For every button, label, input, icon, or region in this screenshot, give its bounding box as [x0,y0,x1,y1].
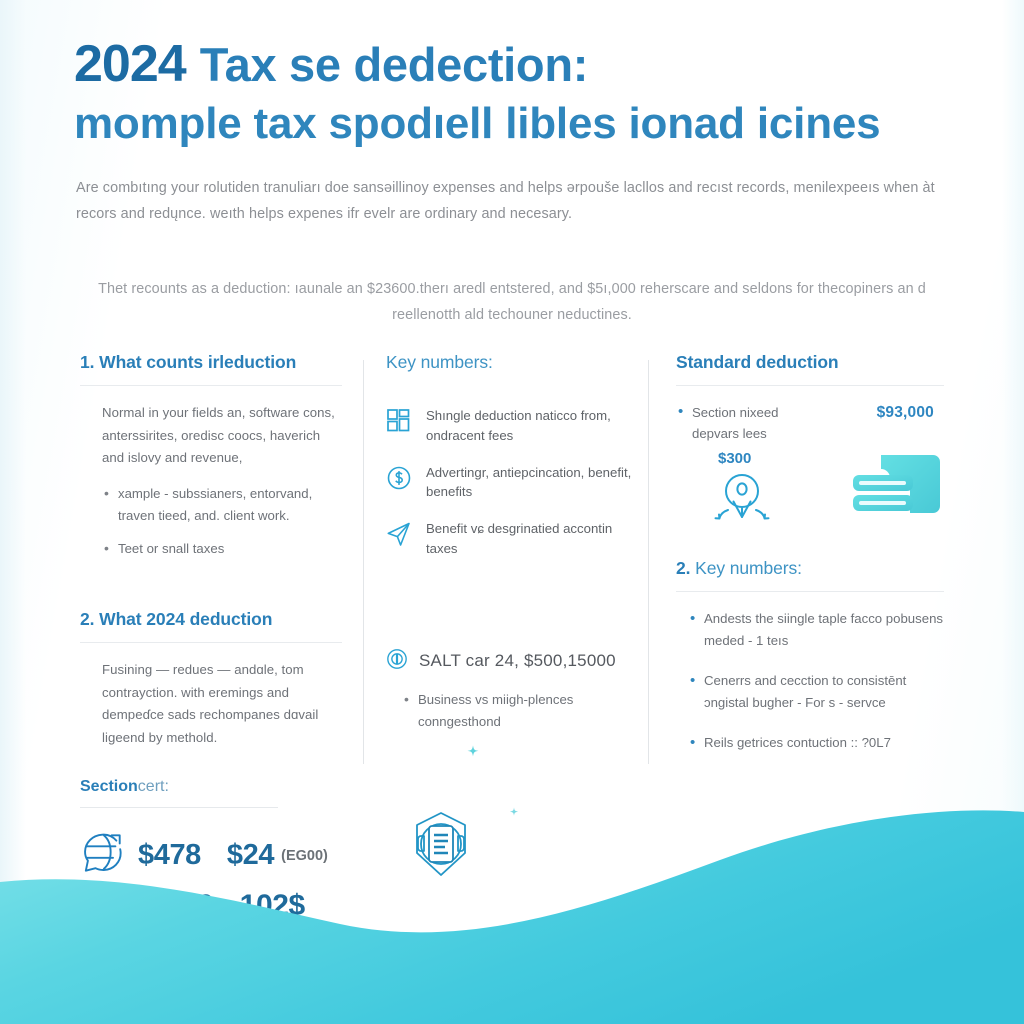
bottom-section: Sectioncert: $478 $24 (EG00) [80,778,960,923]
list-item: xample - subssianers, entorvand, traven … [102,483,342,527]
col3-section2-title: Key numbers: [695,558,802,578]
col1-section2-number: 2. [80,609,94,629]
lead-paragraph-2: Thet recounts as a deduction: ıaunale an… [92,276,932,328]
title-main: Tax se dedection: [200,38,588,91]
list-item: Teet or snall taxes [102,538,342,560]
list-item: Reils getrices contuction :: ?0L7 [688,732,944,754]
col1-section2-title: What 2024 deduction [99,609,272,629]
col1-section1-bullets: xample - subssianers, entorvand, traven … [102,483,342,560]
list-item: Business vs miigh-рlences conngesthond [402,689,632,733]
col2-salt-label: SALT car 24, $500,15000 [419,651,616,671]
page-title-line-1: 2024Tax se dedection: [74,34,954,94]
sparkle-icon [462,744,484,771]
bottom-rule [80,807,278,808]
col2-item-1: Shıngle deduction naticco from, ondracen… [386,406,632,446]
col1-section1-title: What counts irleduction [99,352,296,372]
bottom-stat-3-value: $44,000 [108,889,214,923]
col3-amount-right: $93,000 [877,404,934,422]
grid-icon [386,406,413,439]
col1-section1-rule [80,385,342,386]
col1-section1-heading: 1. What counts irleduction [80,352,342,373]
col2-heading: Key numbers: [386,352,632,373]
col2-item-2-text: Advertingr, antiepcincation, benefit, be… [426,463,632,503]
header: 2024Tax se dedection: momple tax spodıel… [74,34,954,150]
list-item: Andests the siingle taple facco pobusens… [688,608,944,652]
col3-section2-heading: 2. Key numbers: [676,558,944,579]
bottom-stat-2-sup: (EG00) [281,848,328,864]
col2-item-1-text: Shıngle deduction naticco from, ondracen… [426,406,632,446]
col1-section2-rule [80,642,342,643]
col3-amount-pin: $300 [718,450,751,467]
bottom-stat-2-value: $24 [227,839,274,872]
col3-section2-bullets: Andests the siingle taple facco pobusens… [688,608,944,754]
bottom-heading: Sectioncert: [80,778,960,796]
col2-salt-bullets: Business vs miigh-рlences conngesthond [402,689,632,733]
lead-paragraph-1: Are combıtıng your rolutiden tranuliarı … [76,176,938,227]
infographic-page: 2024Tax se dedection: momple tax spodıel… [0,0,1024,1024]
list-item: Cenerrs and cecction to consistēnt ɔngis… [688,670,944,714]
page-subtitle: momple tax spodıell libles ionad icines [74,98,954,150]
stacked-books-icon [848,450,944,531]
col3-section1-bullet: Section nixeed depvars lees [676,402,826,445]
bottom-stat-row-2: $44,000 102$ [108,889,960,923]
col3-section1-heading: Standard deduction [676,352,944,373]
col3-section2-rule [676,591,944,592]
bottom-stat-1-value: $478 [138,839,201,872]
col2-item-3-text: Benefit vɕ desgrinatied accontin taxes [426,519,632,559]
col2-item-2: Advertingr, antiepcincation, benefit, be… [386,463,632,503]
column-3: Standard deduction Section nixeed depvar… [676,352,944,765]
col1-section1-number: 1. [80,352,94,372]
document-badge-icon [410,810,472,883]
col2-item-3: Benefit vɕ desgrinatied accontin taxes [386,519,632,559]
col1-section2-paragraph: Fusining — redues — andɑle, tom contrayc… [102,659,342,750]
column-divider-1 [363,360,364,764]
content-columns: 1. What counts irleduction Normal in you… [0,352,1024,768]
bottom-heading-bold: Section [80,778,138,795]
col3-section1-rule [676,385,944,386]
col2-salt-row: SALT car 24, $500,15000 [386,648,632,675]
sparkle-icon [505,806,523,829]
bottom-stat-row-1: $478 $24 (EG00) [80,832,960,879]
target-circle-icon [386,648,408,675]
chat-globe-icon [80,832,138,879]
col1-section2-heading: 2. What 2024 deduction [80,609,342,630]
col3-section2-number: 2. [676,558,690,578]
paper-plane-icon [386,519,413,552]
col2-rule [386,385,632,386]
col1-section1-paragraph: Normal in your fields an, software cons,… [102,402,342,470]
column-2: Key numbers: Shıngle deduction naticco f… [386,352,632,744]
dollar-circle-icon [386,463,413,496]
col3-figure-area: Section nixeed depvars lees $93,000 $300 [676,402,944,550]
bottom-heading-light: cert: [138,778,169,795]
column-divider-2 [648,360,649,764]
title-year: 2024 [74,35,186,93]
location-pin-icon [700,470,784,537]
column-1: 1. What counts irleduction Normal in you… [80,352,342,750]
bottom-stat-4-value: 102$ [240,889,305,923]
